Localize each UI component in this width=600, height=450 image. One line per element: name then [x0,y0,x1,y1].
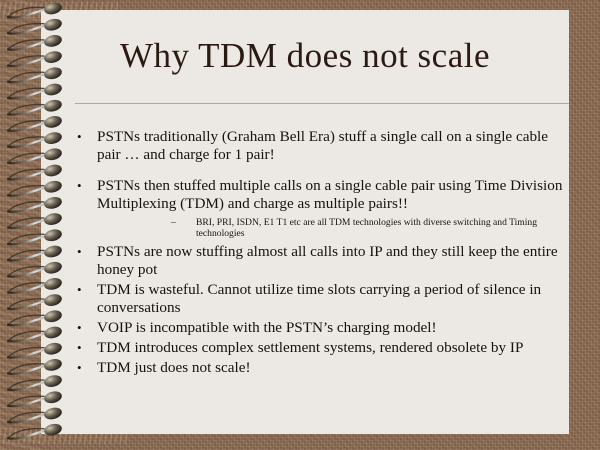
page-title: Why TDM does not scale [41,35,569,77]
list-item-text: TDM is wasteful. Cannot utilize time slo… [97,281,563,317]
list-item: • VOIP is incompatible with the PSTN’s c… [71,319,563,337]
notebook-page: Why TDM does not scale • PSTNs tradition… [41,10,569,434]
sub-list-item: – BRI, PRI, ISDN, E1 T1 etc are all TDM … [71,217,563,239]
list-item-text: TDM introduces complex settlement system… [97,339,563,357]
list-item: • PSTNs then stuffed multiple calls on a… [71,177,563,213]
bullet-marker-icon: • [71,319,97,337]
background-left-band [0,0,44,450]
list-item: • PSTNs are now stuffing almost all call… [71,243,563,279]
bullet-list: • PSTNs traditionally (Graham Bell Era) … [71,128,563,379]
list-item: • PSTNs traditionally (Graham Bell Era) … [71,128,563,164]
list-item: • TDM is wasteful. Cannot utilize time s… [71,281,563,317]
bullet-marker-icon: • [71,243,97,261]
bullet-marker-icon: • [71,281,97,299]
bullet-marker-icon: • [71,339,97,357]
list-item-text: TDM just does not scale! [97,359,563,377]
list-item: • TDM introduces complex settlement syst… [71,339,563,357]
list-item-text: PSTNs are now stuffing almost all calls … [97,243,563,279]
dash-marker-icon: – [171,217,196,228]
slide: Why TDM does not scale • PSTNs tradition… [0,0,600,450]
bullet-marker-icon: • [71,128,97,146]
list-item-text: PSTNs traditionally (Graham Bell Era) st… [97,128,563,164]
title-divider [75,103,569,104]
list-item-text: VOIP is incompatible with the PSTN’s cha… [97,319,563,337]
list-item-text: PSTNs then stuffed multiple calls on a s… [97,177,563,213]
sub-list-item-text: BRI, PRI, ISDN, E1 T1 etc are all TDM te… [196,217,563,239]
bullet-marker-icon: • [71,359,97,377]
list-item: • TDM just does not scale! [71,359,563,377]
bullet-marker-icon: • [71,177,97,195]
